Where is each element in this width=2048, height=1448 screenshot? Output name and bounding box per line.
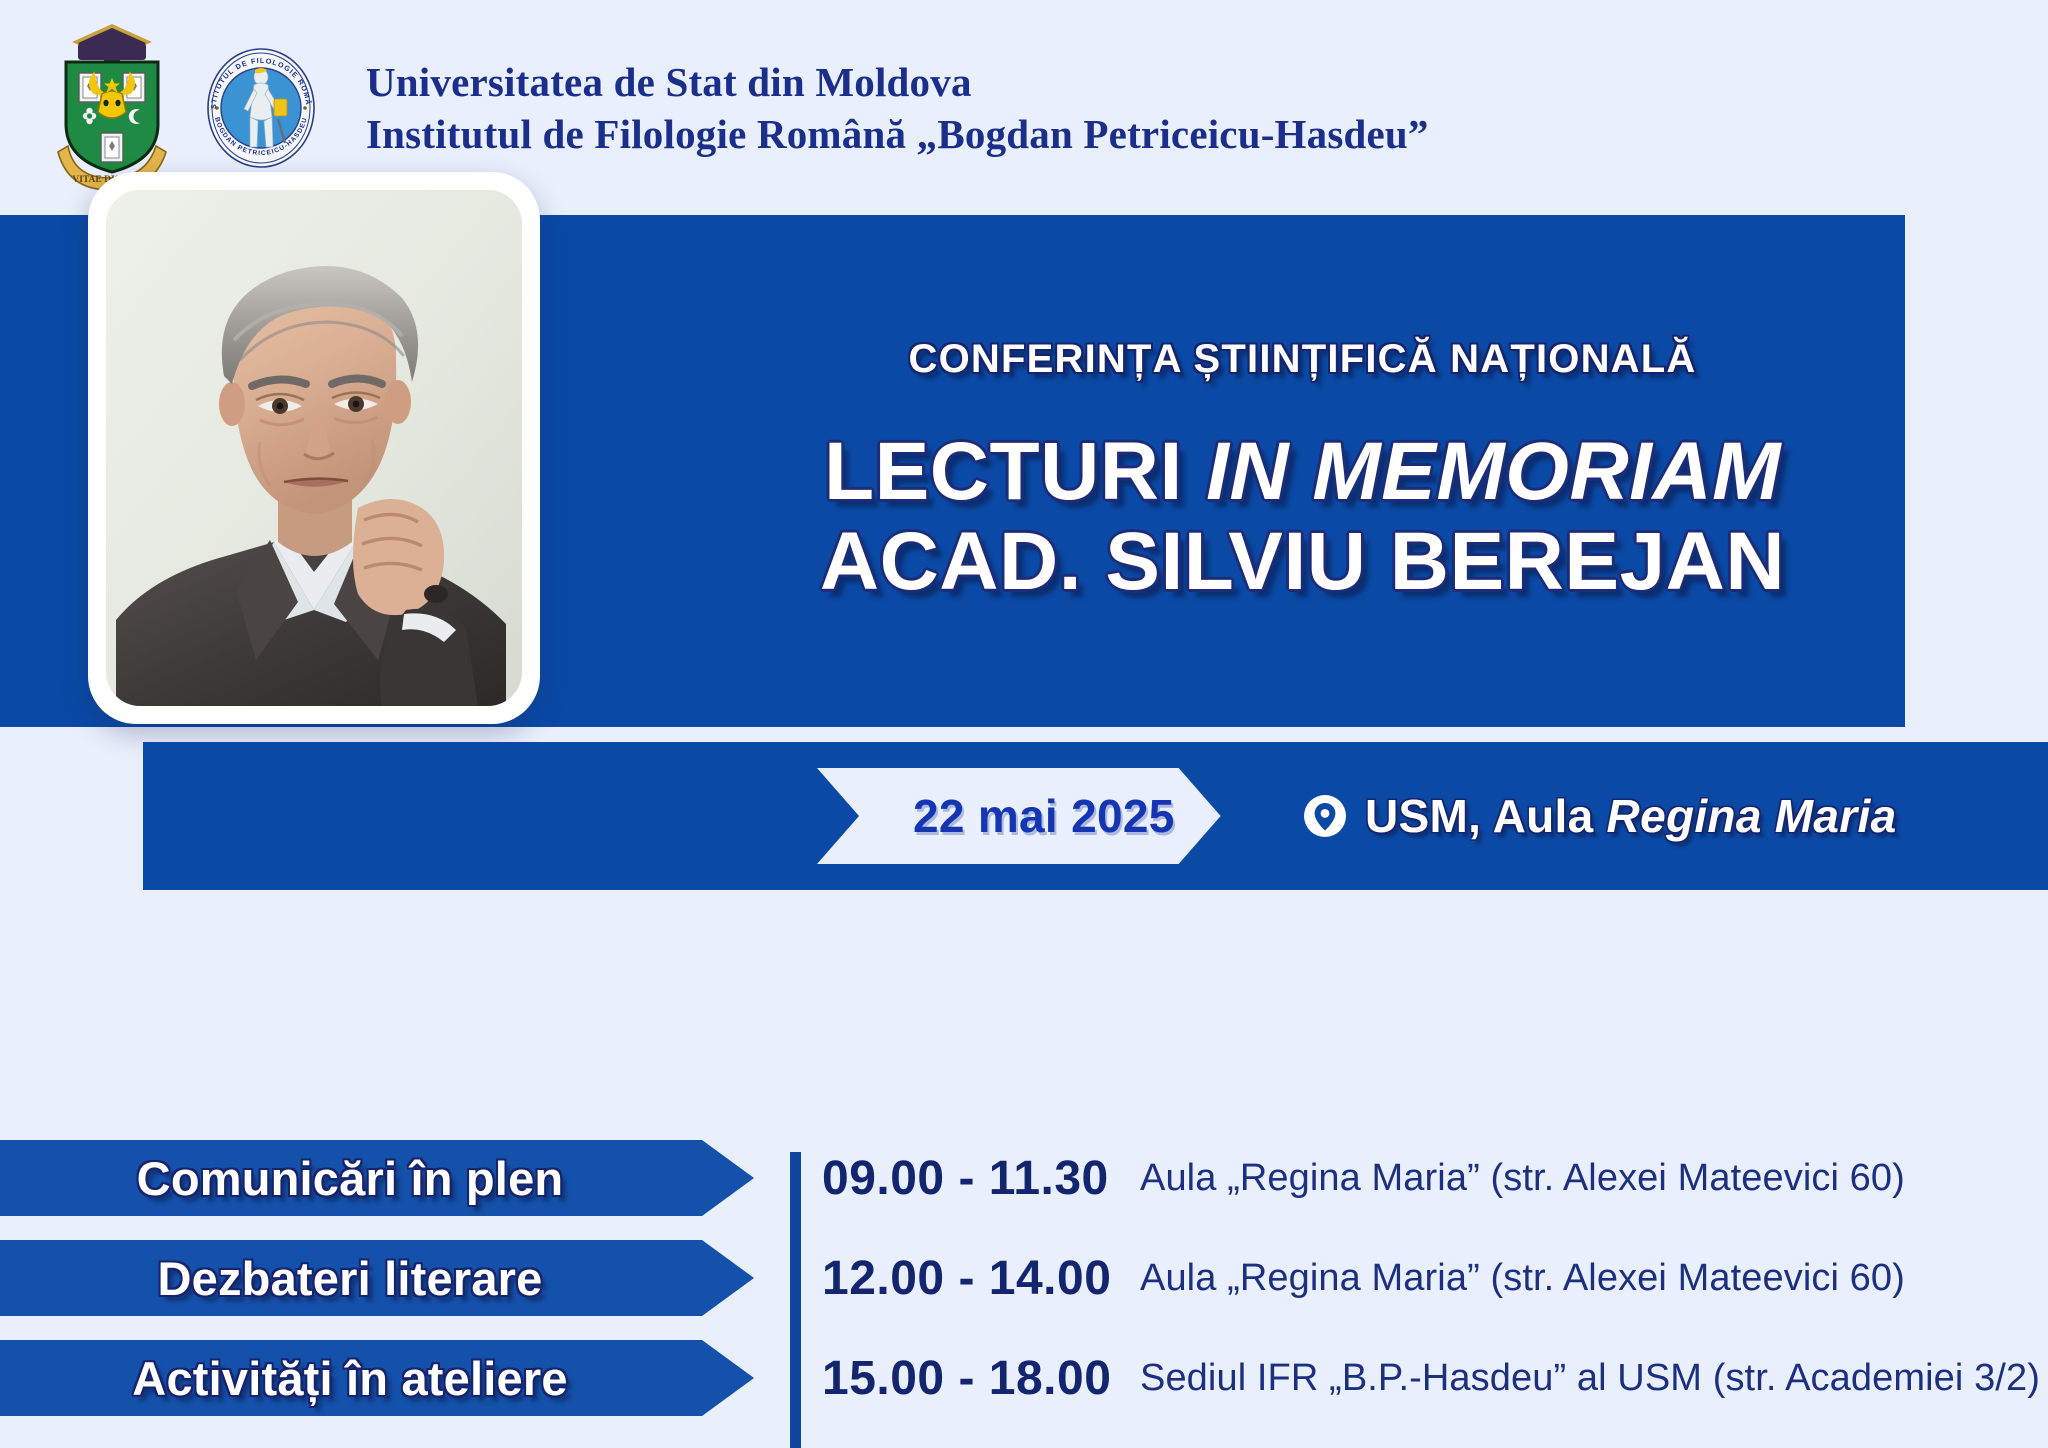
- conference-subtitle: ACAD. SILVIU BEREJAN: [820, 518, 1785, 606]
- usm-coat-of-arms-icon: VITAE DISCIMUS: [48, 20, 176, 195]
- portrait-card: [88, 172, 540, 724]
- portrait-illustration: [106, 190, 522, 706]
- schedule-row: Dezbateri literare 12.00 - 14.00 Aula „R…: [0, 1240, 2048, 1340]
- portrait-photo: [106, 190, 522, 706]
- location-italic-part: Regina Maria: [1607, 790, 1897, 842]
- location-plain-part: USM, Aula: [1365, 790, 1607, 842]
- university-titles: Universitatea de Stat din Moldova Instit…: [366, 56, 1429, 160]
- location-pin-icon: [1303, 794, 1347, 838]
- schedule-label-plenary: Comunicări în plen: [0, 1140, 754, 1216]
- event-date-text: 22 mai 2025: [913, 789, 1175, 843]
- schedule-venue-workshops: Sediul IFR „B.P.-Hasdeu” al USM (str. Ac…: [1140, 1340, 2040, 1416]
- event-location-text: USM, Aula Regina Maria: [1365, 789, 1896, 843]
- schedule-section: Comunicări în plen 09.00 - 11.30 Aula „R…: [0, 1140, 2048, 1448]
- schedule-venue-debates: Aula „Regina Maria” (str. Alexei Mateevi…: [1140, 1240, 1905, 1316]
- schedule-row: Activități în ateliere 15.00 - 18.00 Sed…: [0, 1340, 2048, 1440]
- schedule-time-workshops: 15.00 - 18.00: [822, 1340, 1102, 1416]
- schedule-label-workshops: Activități în ateliere: [0, 1340, 754, 1416]
- ifr-seal-icon: INSTITUTUL DE FILOLOGIE ROMÂNĂ BOGDAN PE…: [200, 47, 322, 169]
- schedule-label-debates: Dezbateri literare: [0, 1240, 754, 1316]
- schedule-venue-plenary: Aula „Regina Maria” (str. Alexei Mateevi…: [1140, 1140, 1905, 1216]
- hero-text-group: CONFERINȚA ȘTIINȚIFICĂ NAȚIONALĂ LECTURI…: [700, 215, 1905, 727]
- usm-coat-of-arms-logo: VITAE DISCIMUS: [48, 20, 176, 195]
- title-italic-part: IN MEMORIAM: [1206, 426, 1781, 517]
- event-location-chevron: USM, Aula Regina Maria: [1207, 768, 1944, 864]
- title-plain-part: LECTURI: [824, 426, 1206, 517]
- institute-name: Institutul de Filologie Română „Bogdan P…: [366, 108, 1429, 160]
- schedule-time-plenary: 09.00 - 11.30: [822, 1140, 1102, 1216]
- university-name: Universitatea de Stat din Moldova: [366, 56, 1429, 108]
- schedule-row: Comunicări în plen 09.00 - 11.30 Aula „R…: [0, 1140, 2048, 1240]
- conference-poster: VITAE DISCIMUS: [0, 0, 2048, 1448]
- conference-title: LECTURI IN MEMORIAM: [824, 430, 1781, 514]
- ifr-institute-seal-logo: INSTITUTUL DE FILOLOGIE ROMÂNĂ BOGDAN PE…: [200, 47, 322, 169]
- conference-kicker: CONFERINȚA ȘTIINȚIFICĂ NAȚIONALĂ: [909, 337, 1697, 382]
- schedule-time-debates: 12.00 - 14.00: [822, 1240, 1102, 1316]
- event-date-chevron: 22 mai 2025: [817, 768, 1221, 864]
